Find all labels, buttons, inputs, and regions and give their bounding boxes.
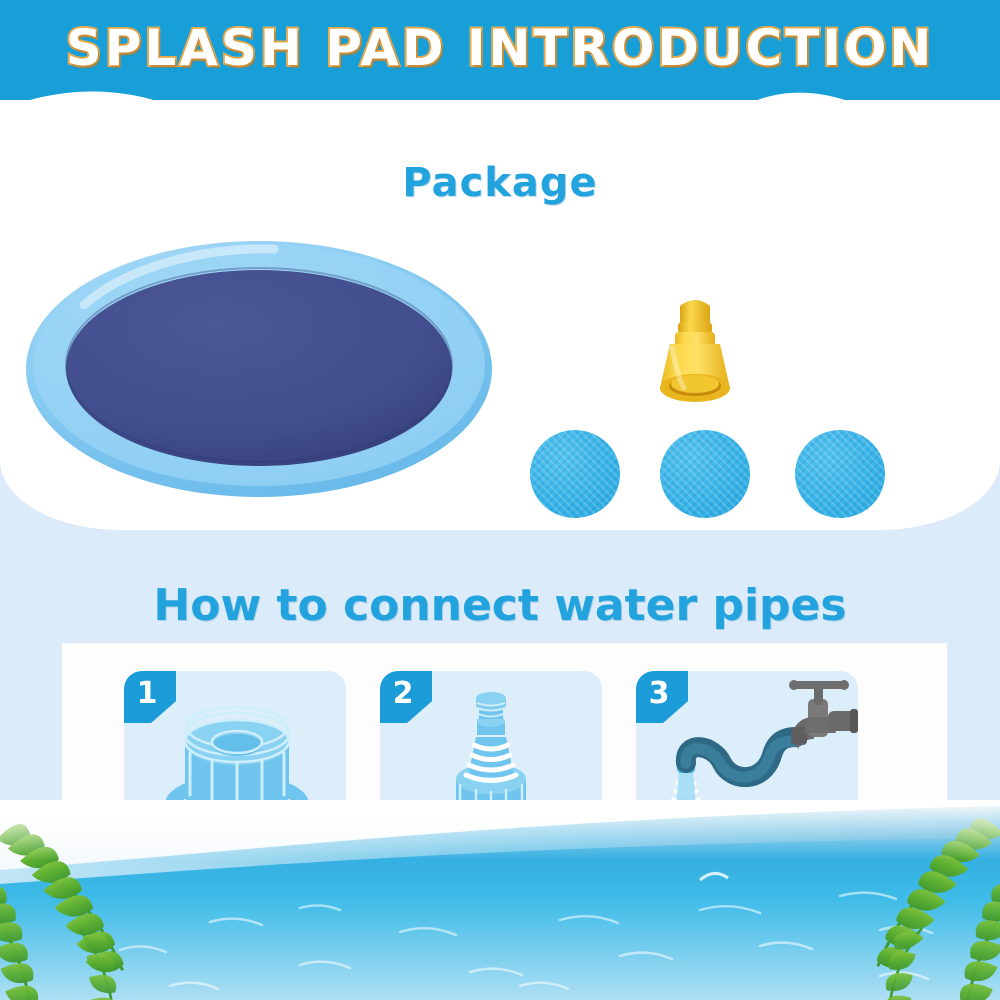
- howto-section-title: How to connect water pipes: [0, 580, 1000, 631]
- beach-footer: [0, 800, 1000, 1000]
- poster-root: SPLASH PAD INTRODUCTION Package: [0, 0, 1000, 1000]
- package-card: Package: [0, 100, 1000, 530]
- step-number-3: 3: [636, 671, 682, 715]
- repair-patch: [795, 430, 885, 518]
- repair-patch: [530, 430, 620, 518]
- step-number-1: 1: [124, 671, 170, 715]
- package-section-title: Package: [0, 160, 1000, 206]
- page-title-text: SPLASH PAD INTRODUCTION: [66, 19, 935, 77]
- splash-pad-illustration: [24, 235, 494, 500]
- repair-patch-group: [510, 430, 900, 520]
- page-title: SPLASH PAD INTRODUCTION: [0, 19, 1000, 77]
- hose-connector-illustration: [650, 292, 740, 407]
- repair-patch: [660, 430, 750, 518]
- step-number-2: 2: [380, 671, 426, 715]
